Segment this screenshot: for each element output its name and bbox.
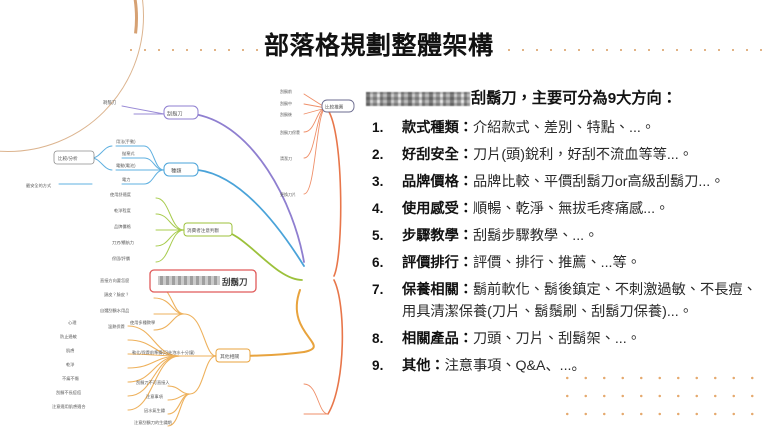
svg-text:肌膚: 肌膚 [66,347,74,354]
svg-text:比較推薦: 比較推薦 [325,104,344,111]
list-item: 保養相關：鬍前軟化、鬍後鎮定、不刺激過敏、不長痘、用具清潔保養(刀片、鬍鬚刷、刮… [366,280,766,323]
svg-text:刮鬍中: 刮鬍中 [280,100,292,106]
svg-text:刮鬍刀: 刮鬍刀 [167,110,183,118]
branch-subline-green [156,198,184,262]
list-item: 評價排行：評價、排行、推薦、...等。 [366,253,766,275]
list-item-value: 注意事項、Q&A、...。 [445,358,586,374]
list-item: 使用感受：順暢、乾淨、無拔毛疼痛感...。 [366,199,766,221]
list-item-key: 使用感受： [402,201,473,217]
svg-text:軟化/保養前準備(可先泡水十分鐘): 軟化/保養前準備(可先泡水十分鐘) [132,349,195,356]
svg-text:防止過敏: 防止過敏 [60,333,78,340]
svg-text:刮鬍刀保養: 刮鬍刀保養 [280,129,300,135]
svg-text:刮鬍不長痘痘: 刮鬍不長痘痘 [56,389,82,396]
svg-text:使用舒適度: 使用舒適度 [110,191,132,198]
list-item: 相關產品：刀頭、刀片、刮鬍架、...。 [366,329,766,351]
svg-text:因水氣生鏽: 因水氣生鏽 [144,407,166,414]
list-item: 其他：注意事項、Q&A、...。 [366,356,766,378]
branch-subline-purple [122,106,164,114]
svg-text:更換刀片: 更換刀片 [280,191,296,197]
list-item-value: 刮鬍步驟教學、...。 [473,228,598,244]
svg-text:保固/評價: 保固/評價 [112,255,131,262]
list-item-value: 刀頭、刀片、刮鬍架、...。 [473,331,641,347]
svg-text:頭皮？臉皮？: 頭皮？臉皮？ [104,291,129,298]
svg-text:電力: 電力 [122,176,130,183]
list-item-value: 介紹款式、差別、特點、...。 [473,120,655,136]
direction-list: 款式種類：介紹款式、差別、特點、...。 好刮安全：刀片(頭)銳利，好刮不流血等… [366,118,766,378]
list-item: 好刮安全：刀片(頭)銳利，好刮不流血等等...。 [366,145,766,167]
svg-text:電動(電池): 電動(電池) [116,162,136,169]
svg-text:拋棄式: 拋棄式 [122,150,135,157]
svg-text:種類: 種類 [171,167,182,175]
svg-text:注意適用肌膚適合: 注意適用肌膚適合 [52,403,86,410]
list-item: 款式種類：介紹款式、差別、特點、...。 [366,118,766,140]
svg-text:注意刮鬍刀的生鏽期: 注意刮鬍刀的生鏽期 [134,419,172,426]
svg-text:消費者注意判斷: 消費者注意判斷 [187,227,220,234]
svg-text:注意事項: 注意事項 [146,393,164,400]
svg-text:溫熱保養: 溫熱保養 [108,323,126,330]
svg-text:其他相關: 其他相關 [220,353,239,360]
list-item-key: 款式種類： [402,120,473,136]
svg-text:不痛不傷: 不痛不傷 [62,375,80,382]
svg-text:比較/分析: 比較/分析 [58,155,78,162]
list-item-value: 評價、排行、推薦、...等。 [473,255,641,271]
list-item-key: 步驟教學： [402,228,473,244]
svg-text:刮鬍前: 刮鬍前 [280,88,292,94]
list-item: 步驟教學：刮鬍步驟教學、...。 [366,226,766,248]
content-panel: 刮鬍刀，主要可分為9大方向： 款式種類：介紹款式、差別、特點、...。 好刮安全… [366,88,766,383]
svg-text:心理: 心理 [68,319,77,325]
list-item-key: 好刮安全： [402,147,473,163]
branch-subline-orange [128,284,216,426]
list-item-key: 相關產品： [402,331,473,347]
svg-text:直接方向要怎麼: 直接方向要怎麼 [100,277,129,284]
list-item-value: 順暢、乾淨、無拔毛疼痛感...。 [473,201,669,217]
list-item: 品牌價格：品牌比較、平價刮鬍刀or高級刮鬍刀...。 [366,172,766,194]
svg-text:乾淨程度: 乾淨程度 [114,207,132,214]
svg-text:刮鬍刀: 刮鬍刀 [222,277,248,287]
list-item-key: 其他： [402,358,445,374]
svg-text:最安全的方式: 最安全的方式 [26,182,52,189]
redacted-brand-name [366,92,470,106]
svg-text:品牌價格: 品牌價格 [114,223,132,230]
list-item-value: 刀片(頭)銳利，好刮不流血等等...。 [473,147,693,163]
mindmap-center-node: 刮鬍刀 [150,270,256,292]
list-item-key: 保養相關： [402,282,473,298]
slide-root: 部落格規劃整體架構 刮鬍刀 剃鬚刀 [0,0,772,433]
svg-text:乾淨: 乾淨 [66,361,74,368]
svg-text:刮鬍刀不可直接入: 刮鬍刀不可直接入 [136,379,170,386]
svg-text:用法(手動): 用法(手動) [116,138,136,145]
branch-line-salmon [326,108,342,414]
branch-line-orange [216,290,314,356]
svg-text:清潔刀: 清潔刀 [280,155,292,161]
svg-text:刮鬍後: 刮鬍後 [280,111,292,117]
page-title: 部落格規劃整體架構 [264,31,501,62]
list-item-value: 品牌比較、平價刮鬍刀or高級刮鬍刀...。 [473,174,724,190]
branch-subline-salmon [304,94,328,414]
svg-text:使用多種教學: 使用多種教學 [130,319,155,326]
lead-sentence: 刮鬍刀，主要可分為9大方向： [366,88,766,111]
lead-text: 刮鬍刀，主要可分為9大方向： [471,88,677,111]
svg-text:刀刃/續航力: 刀刃/續航力 [112,239,134,246]
svg-text:自選刮鬍水用品: 自選刮鬍水用品 [100,307,129,314]
mindmap-diagram: 刮鬍刀 剃鬚刀 [4,84,364,429]
svg-text:剃鬚刀: 剃鬚刀 [103,99,116,106]
branch-line-blue [198,170,304,266]
list-item-key: 評價排行： [402,255,473,271]
list-item-key: 品牌價格： [402,174,473,190]
